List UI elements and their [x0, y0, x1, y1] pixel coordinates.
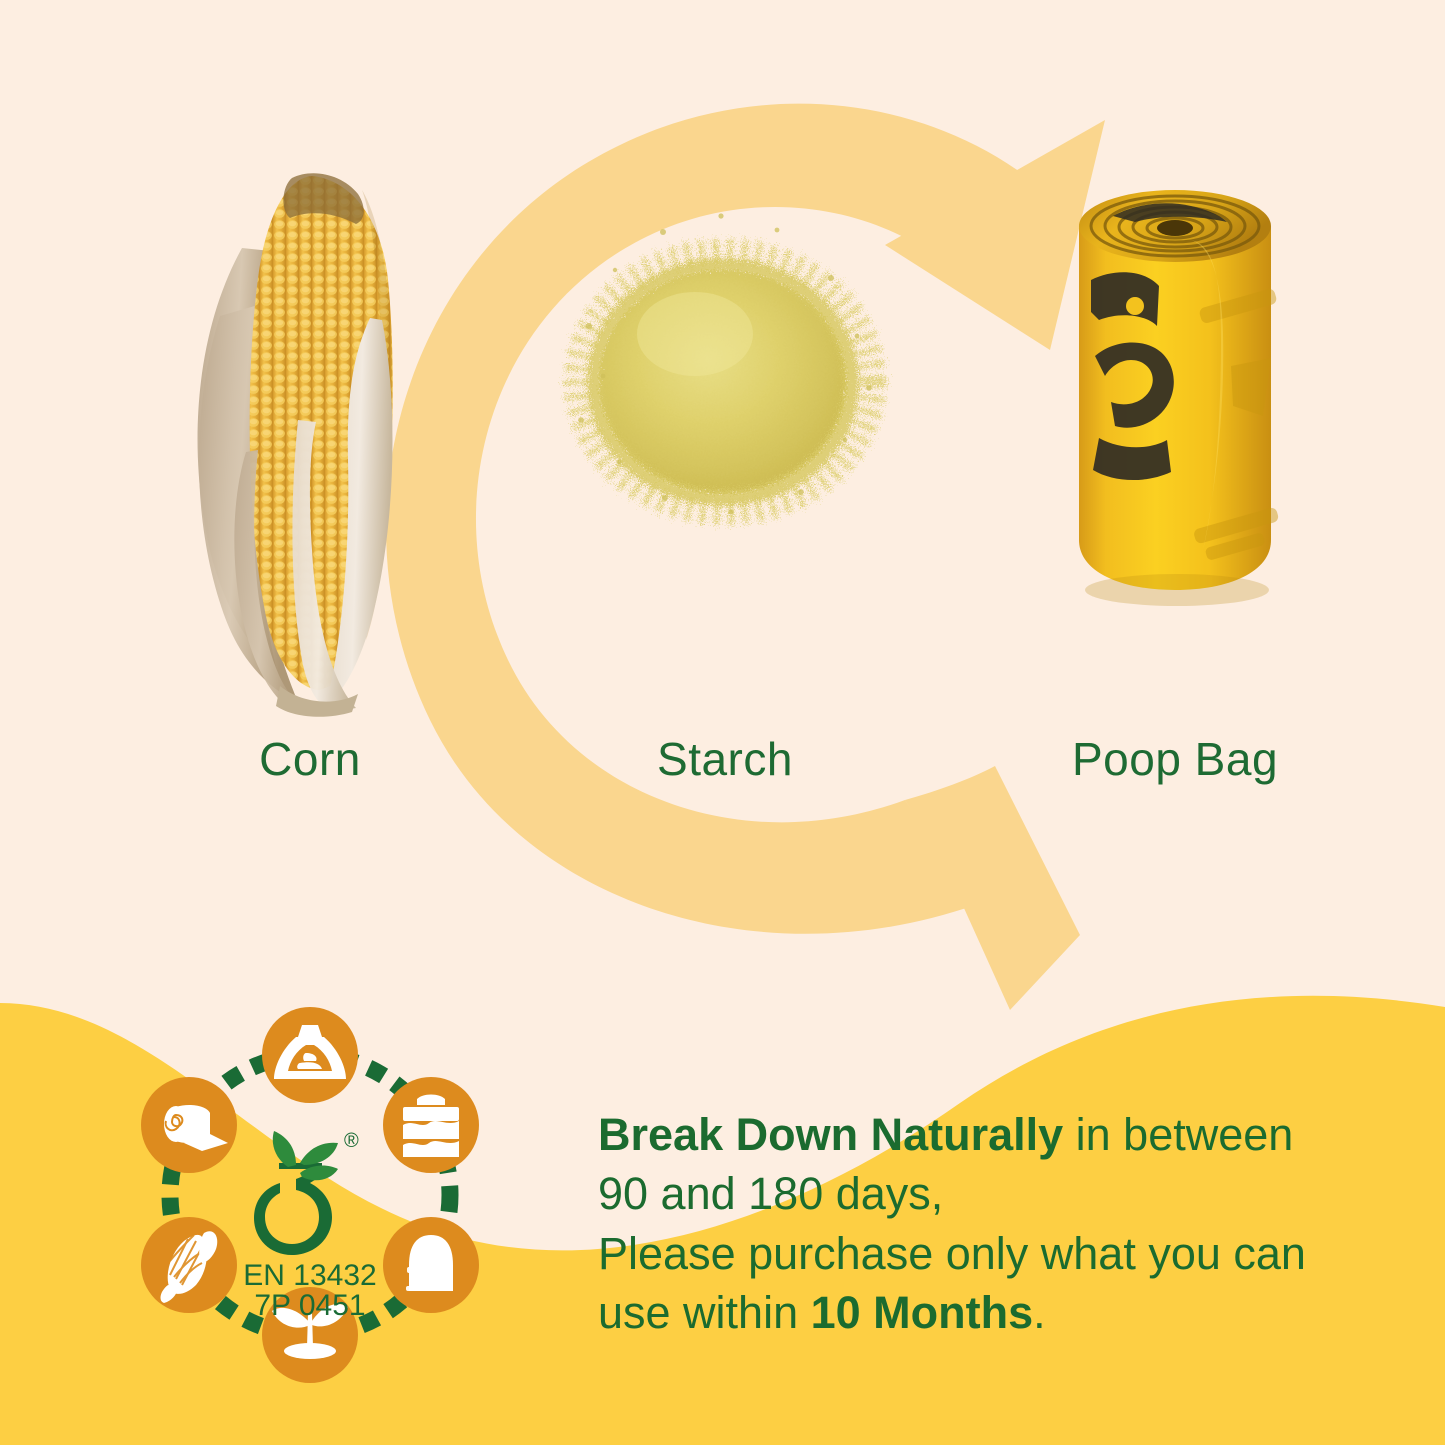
- product-infographic-poster: Corn: [0, 0, 1445, 1445]
- ok-compost-seedling-logo: ®: [254, 1130, 359, 1255]
- cycle-icon-bag-in-soil: [383, 1217, 479, 1313]
- registered-trademark-mark: ®: [344, 1130, 359, 1152]
- claim-line-3: Please purchase only what you can: [598, 1224, 1388, 1283]
- bag-roll-shadow: [1085, 574, 1269, 606]
- corn-cob-photo: [130, 120, 490, 720]
- bag-roll-core: [1157, 220, 1193, 236]
- claim-line-2: 90 and 180 days,: [598, 1164, 1388, 1223]
- certification-standard-line2: 7P 0451: [254, 1289, 365, 1322]
- process-step-poop-bag: Poop Bag: [995, 120, 1355, 820]
- process-step-label-corn: Corn: [130, 732, 490, 786]
- claim-line-1: Break Down Naturally in between: [598, 1105, 1388, 1164]
- process-step-corn: Corn: [130, 120, 490, 820]
- claim-line-4-strong: 10 Months: [811, 1287, 1034, 1338]
- cycle-icon-poop-bag: [262, 1007, 358, 1103]
- process-step-label-poop-bag: Poop Bag: [995, 732, 1355, 786]
- claim-text-block: Break Down Naturally in between 90 and 1…: [598, 1105, 1388, 1343]
- claim-line-1-strong: Break Down Naturally: [598, 1109, 1063, 1160]
- claim-line-4: use within 10 Months.: [598, 1283, 1388, 1342]
- claim-line-1-rest: in between: [1063, 1109, 1293, 1160]
- claim-line-4-end: .: [1033, 1287, 1046, 1338]
- certification-standard-line1: EN 13432: [243, 1259, 376, 1292]
- cycle-icon-corn: [141, 1217, 237, 1313]
- starch-powder-photo: [545, 120, 905, 720]
- process-step-label-starch: Starch: [545, 732, 905, 786]
- certification-badge: ® EN 13432 7P 0451: [110, 995, 510, 1395]
- claim-line-4-rest: use within: [598, 1287, 811, 1338]
- cycle-icon-film-roll: [141, 1077, 237, 1173]
- starch-highlight: [637, 292, 753, 376]
- poop-bag-roll-photo: [995, 120, 1355, 720]
- process-step-starch: Starch: [545, 120, 905, 820]
- process-row: Corn: [0, 120, 1445, 820]
- cycle-icon-compost-layers: [383, 1077, 479, 1173]
